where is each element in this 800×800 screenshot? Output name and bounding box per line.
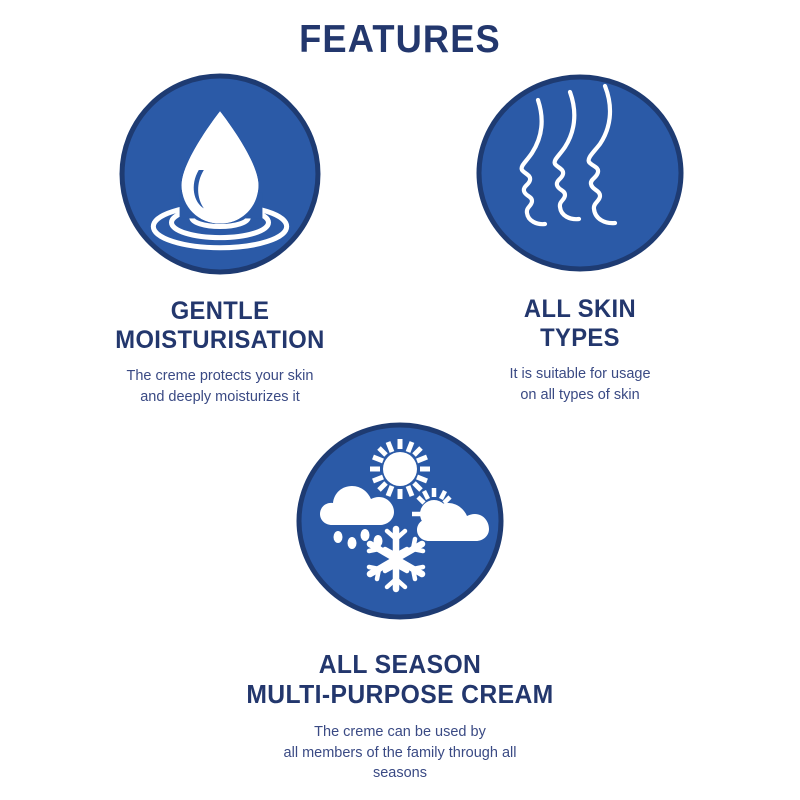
feature-heading: GENTLE MOISTURISATION <box>68 297 372 355</box>
feature-body-line: and deeply moisturizes it <box>60 387 380 408</box>
feature-heading-line: MOISTURISATION <box>68 326 372 355</box>
features-infographic: FEATURES GENTLE MOISTURISATION The creme… <box>0 0 800 800</box>
feature-heading-line: ALL SKIN <box>428 295 732 324</box>
feature-item-all-season: ALL SEASON MULTI-PURPOSE CREAM The creme… <box>205 421 595 784</box>
feature-heading: ALL SEASON MULTI-PURPOSE CREAM <box>215 649 586 709</box>
feature-body-line: on all types of skin <box>420 385 740 406</box>
feature-heading-line: MULTI-PURPOSE CREAM <box>215 679 586 709</box>
page-title: FEATURES <box>28 18 772 62</box>
feature-heading: ALL SKIN TYPES <box>428 295 732 353</box>
feature-body-line: It is suitable for usage <box>420 364 740 385</box>
feature-heading-line: ALL SEASON <box>215 649 586 679</box>
feature-body-line: The creme protects your skin <box>60 366 380 387</box>
feature-body-line: seasons <box>205 763 595 784</box>
feature-body: It is suitable for usage on all types of… <box>420 364 740 405</box>
feature-body-line: The creme can be used by <box>205 722 595 743</box>
feature-body: The creme can be used by all members of … <box>205 722 595 784</box>
feature-heading-line: GENTLE <box>68 297 372 326</box>
water-droplet-ripple-icon <box>119 73 321 275</box>
feature-item-gentle-moisturisation: GENTLE MOISTURISATION The creme protects… <box>60 73 380 407</box>
feature-heading-line: TYPES <box>428 324 732 353</box>
all-weather-seasons-icon <box>295 421 505 621</box>
feature-body: The creme protects your skin and deeply … <box>60 366 380 407</box>
feature-body-line: all members of the family through all <box>205 743 595 764</box>
feature-item-all-skin-types: ALL SKIN TYPES It is suitable for usage … <box>420 73 740 405</box>
three-face-profiles-icon <box>475 73 685 273</box>
sun-glyph <box>370 439 430 499</box>
